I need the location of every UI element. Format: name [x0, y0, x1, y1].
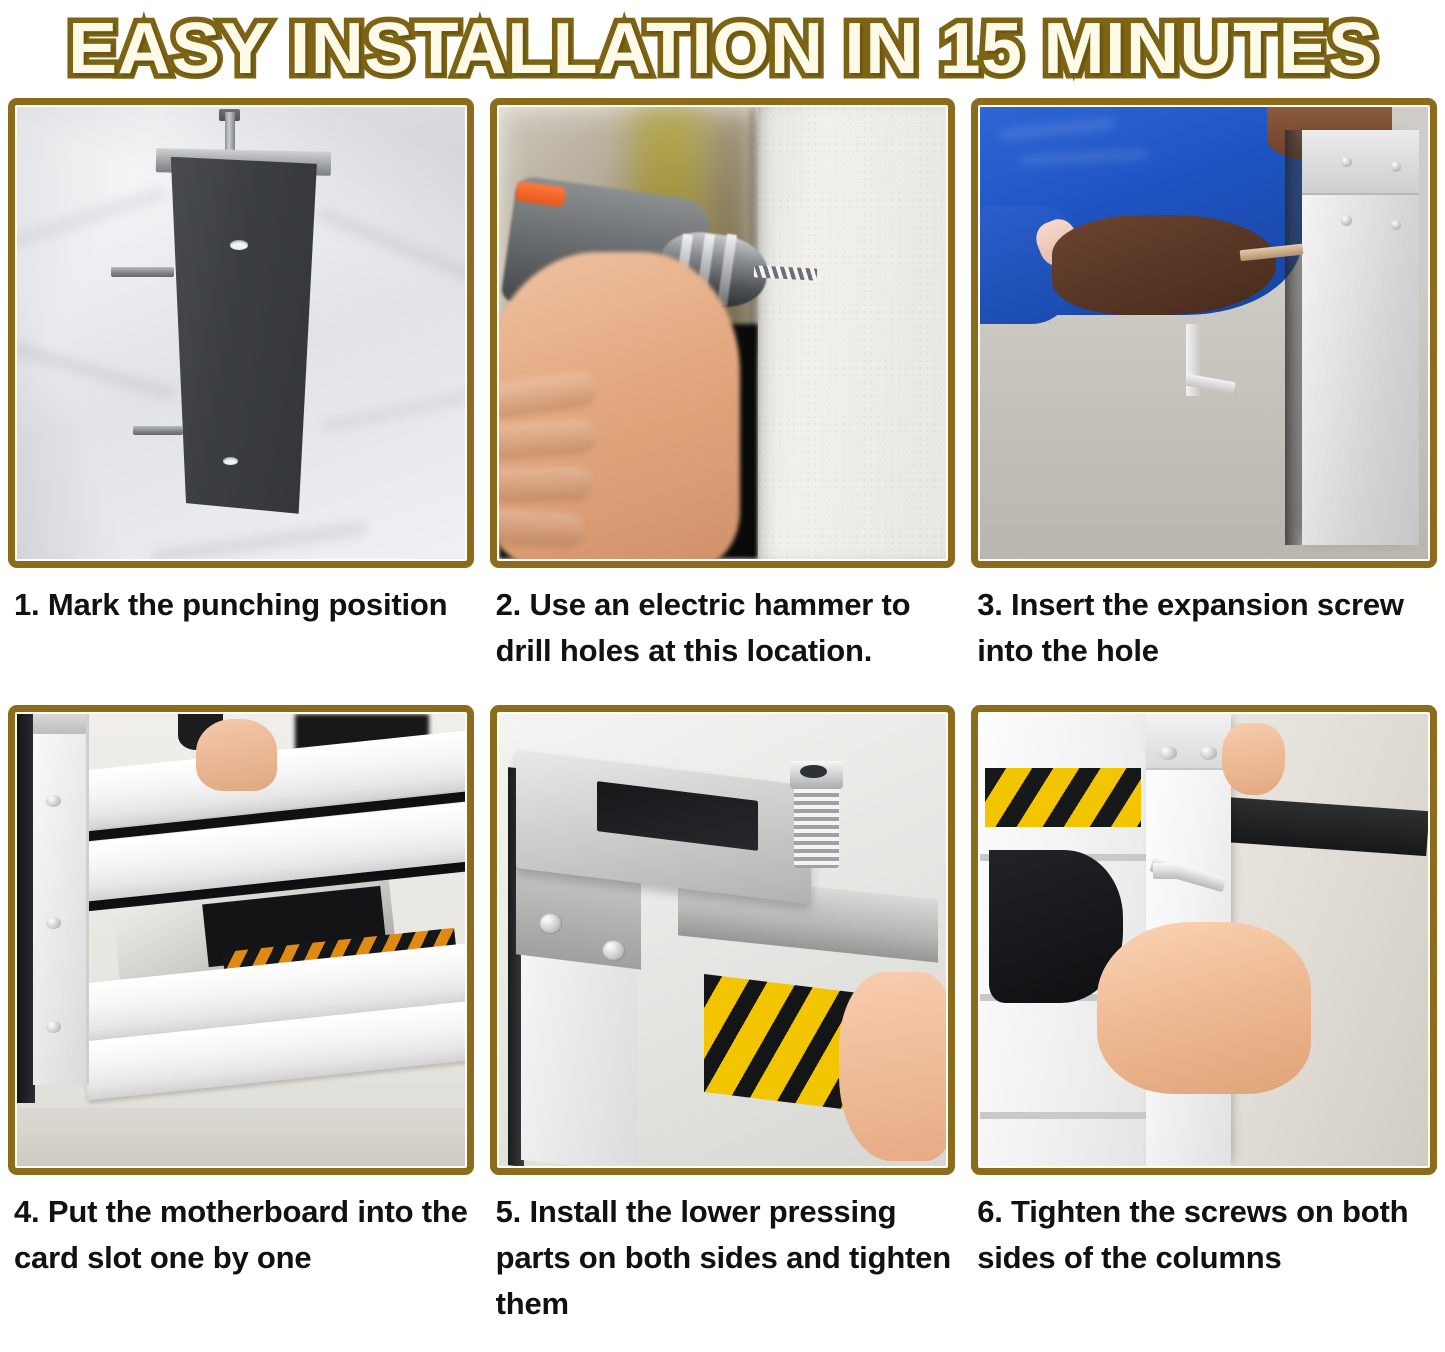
bolt-socket-hole — [800, 765, 827, 779]
steps-grid: 1. Mark the punching position — [0, 98, 1445, 1317]
finger — [499, 466, 593, 503]
step-card-2: 2. Use an electric hammer to drill holes… — [482, 98, 964, 705]
hand-tightening-screw — [1097, 922, 1312, 1094]
worker-arm — [1052, 215, 1276, 314]
marking-template-plate — [165, 157, 317, 514]
column-screw — [1341, 157, 1351, 167]
step-photo-frame-1 — [8, 98, 474, 568]
hand-holding-drill — [499, 252, 741, 559]
side-bolt — [111, 267, 174, 276]
column-screw — [1341, 215, 1351, 225]
template-hole — [223, 457, 238, 465]
allen-key-tip — [1153, 863, 1180, 879]
template-hole — [230, 240, 249, 249]
steps-row-1: 1. Mark the punching position — [0, 98, 1445, 705]
board-seam — [980, 1112, 1168, 1119]
hand-placing-board — [196, 719, 277, 791]
column-screw — [1391, 161, 1401, 171]
photo-stacking-barrier-boards-in-slot — [17, 714, 465, 1166]
step-caption-5: 5. Install the lower pressing parts on b… — [490, 1175, 956, 1317]
photo-hammer-drill-drilling-wall — [499, 107, 947, 559]
column-shadow — [1285, 130, 1303, 546]
post-screw — [1159, 746, 1177, 760]
top-stud — [225, 112, 234, 153]
step-card-5: 5. Install the lower pressing parts on b… — [482, 705, 964, 1317]
shirt-fold — [999, 118, 1115, 140]
step-photo-frame-4 — [8, 705, 474, 1175]
column-post — [33, 714, 90, 1085]
finger — [499, 418, 599, 461]
photo-worker-inserting-expansion-screw — [980, 107, 1428, 559]
side-bolt — [133, 426, 182, 435]
steps-row-2: 4. Put the motherboard into the card slo… — [0, 705, 1445, 1317]
page-title: EASY INSTALLATION IN 15 MINUTES — [68, 10, 1377, 88]
floor — [17, 1107, 465, 1166]
finger — [499, 370, 600, 420]
hazard-stripe — [985, 768, 1142, 827]
step-caption-2: 2. Use an electric hammer to drill holes… — [490, 568, 956, 705]
textured-wall — [758, 107, 946, 559]
photo-marking-template-on-white-cloth — [17, 107, 465, 559]
step-caption-1: 1. Mark the punching position — [8, 568, 474, 705]
photo-tightening-column-screws-allen-key — [980, 714, 1428, 1166]
step-photo-frame-2 — [490, 98, 956, 568]
column-top-plate — [1302, 130, 1418, 195]
step-caption-3: 3. Insert the expansion screw into the h… — [971, 568, 1437, 705]
step-card-1: 1. Mark the punching position — [0, 98, 482, 705]
clamp-screw — [602, 940, 625, 961]
wall-edge-shadow — [750, 107, 758, 559]
clamp-screw — [539, 913, 562, 934]
step-photo-frame-5 — [490, 705, 956, 1175]
post-cap — [33, 714, 87, 734]
step-caption-6: 6. Tighten the screws on both sides of t… — [971, 1175, 1437, 1317]
post-cap — [1146, 714, 1231, 770]
step-card-4: 4. Put the motherboard into the card slo… — [0, 705, 482, 1317]
step-photo-frame-6 — [971, 705, 1437, 1175]
step-card-6: 6. Tighten the screws on both sides of t… — [963, 705, 1445, 1317]
step-card-3: 3. Insert the expansion screw into the h… — [963, 98, 1445, 705]
post-screw — [46, 917, 61, 929]
post-screw — [46, 795, 61, 807]
photo-steel-pressing-clamp-with-bolt — [499, 714, 947, 1166]
step-caption-4: 4. Put the motherboard into the card slo… — [8, 1175, 474, 1317]
header-banner: EASY INSTALLATION IN 15 MINUTES — [0, 0, 1445, 98]
finger — [499, 508, 586, 548]
shirt-fold — [1019, 149, 1148, 165]
step-photo-frame-3 — [971, 98, 1437, 568]
hand-supporting-board — [839, 972, 946, 1162]
upper-hand — [1222, 723, 1285, 795]
post-screw — [46, 1021, 61, 1033]
